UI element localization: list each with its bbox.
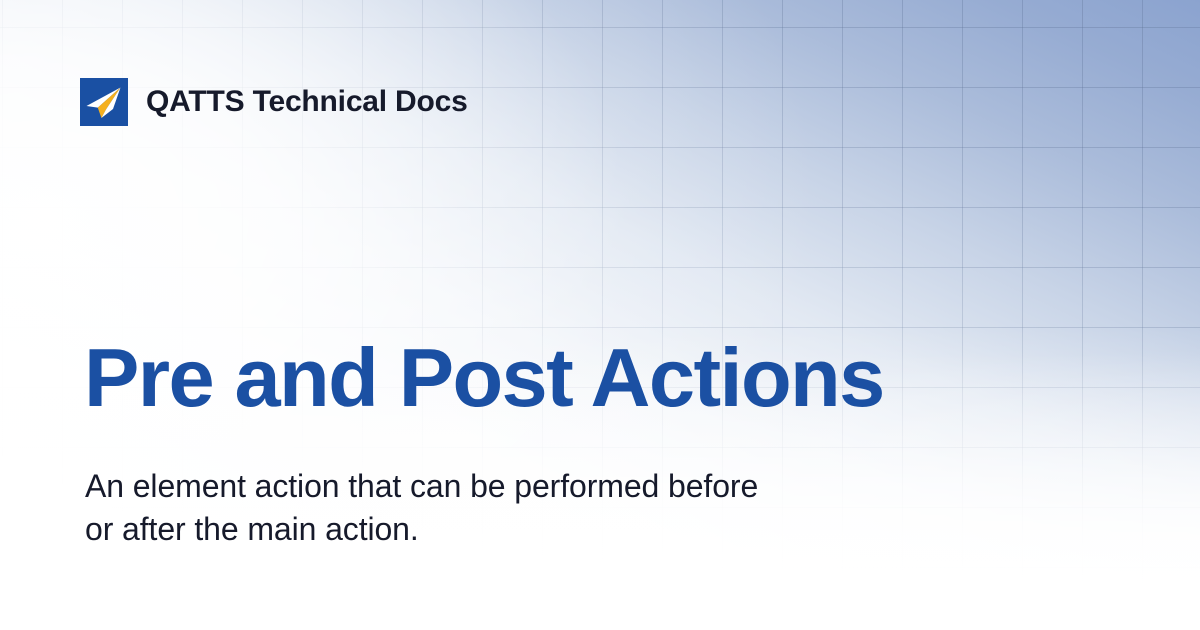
page-title: Pre and Post Actions — [84, 336, 1124, 421]
page-subtitle-line-2: or after the main action. — [85, 508, 885, 551]
brand-lockup[interactable]: QATTS Technical Docs — [80, 78, 468, 126]
paper-plane-icon — [80, 78, 128, 126]
hero-block: Pre and Post Actions An element action t… — [84, 336, 1124, 551]
page-subtitle-line-1: An element action that can be performed … — [85, 465, 885, 508]
og-card-canvas: QATTS Technical Docs Pre and Post Action… — [0, 0, 1200, 630]
site-title: QATTS Technical Docs — [146, 87, 468, 117]
page-subtitle: An element action that can be performed … — [85, 465, 885, 551]
